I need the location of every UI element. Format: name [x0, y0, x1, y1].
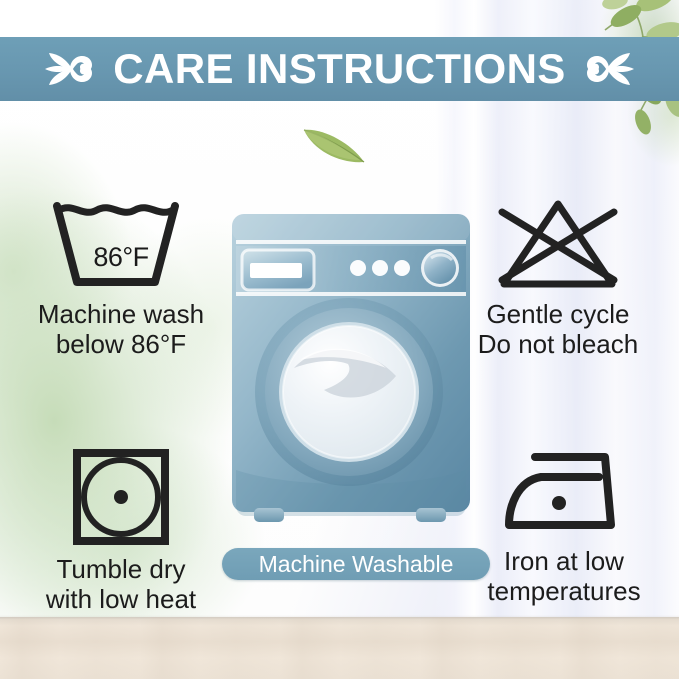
indicator-dot: [350, 260, 366, 276]
symbol-caption: Machine wash below 86°F: [38, 300, 204, 360]
page-title: CARE INSTRUCTIONS: [113, 48, 565, 90]
tumble-dry-low-icon: [70, 447, 172, 547]
fleur-de-lis-icon: [584, 48, 640, 90]
header-banner: CARE INSTRUCTIONS: [0, 37, 679, 101]
fleur-de-lis-icon: [39, 48, 95, 90]
badge-label: Machine Washable: [259, 551, 454, 578]
machine-foot: [416, 508, 446, 522]
care-instructions-infographic: CARE INSTRUCTIONS: [0, 0, 679, 679]
symbol-caption: Iron at low temperatures: [487, 547, 640, 607]
triangle-crossed-out-icon: [488, 196, 628, 292]
single-leaf-icon: [300, 120, 370, 170]
wash-temperature-value: 86°F: [51, 242, 191, 273]
wash-tub-icon-wrap: 86°F: [51, 196, 191, 292]
heat-level-dot: [114, 490, 128, 504]
iron-one-dot-icon: [499, 447, 629, 539]
symbol-no-bleach: Gentle cycle Do not bleach: [443, 196, 673, 360]
symbol-tumble-dry: Tumble dry with low heat: [6, 447, 236, 615]
washing-machine-illustration: [228, 208, 474, 538]
symbol-machine-wash: 86°F Machine wash below 86°F: [6, 196, 236, 360]
indicator-dot: [394, 260, 410, 276]
machine-foot: [254, 508, 284, 522]
symbol-caption: Tumble dry with low heat: [46, 555, 196, 615]
heat-level-dot: [552, 496, 566, 510]
indicator-dot: [372, 260, 388, 276]
wooden-table-surface: [0, 617, 679, 679]
symbol-caption: Gentle cycle Do not bleach: [478, 300, 638, 360]
symbol-iron-low: Iron at low temperatures: [449, 447, 679, 607]
